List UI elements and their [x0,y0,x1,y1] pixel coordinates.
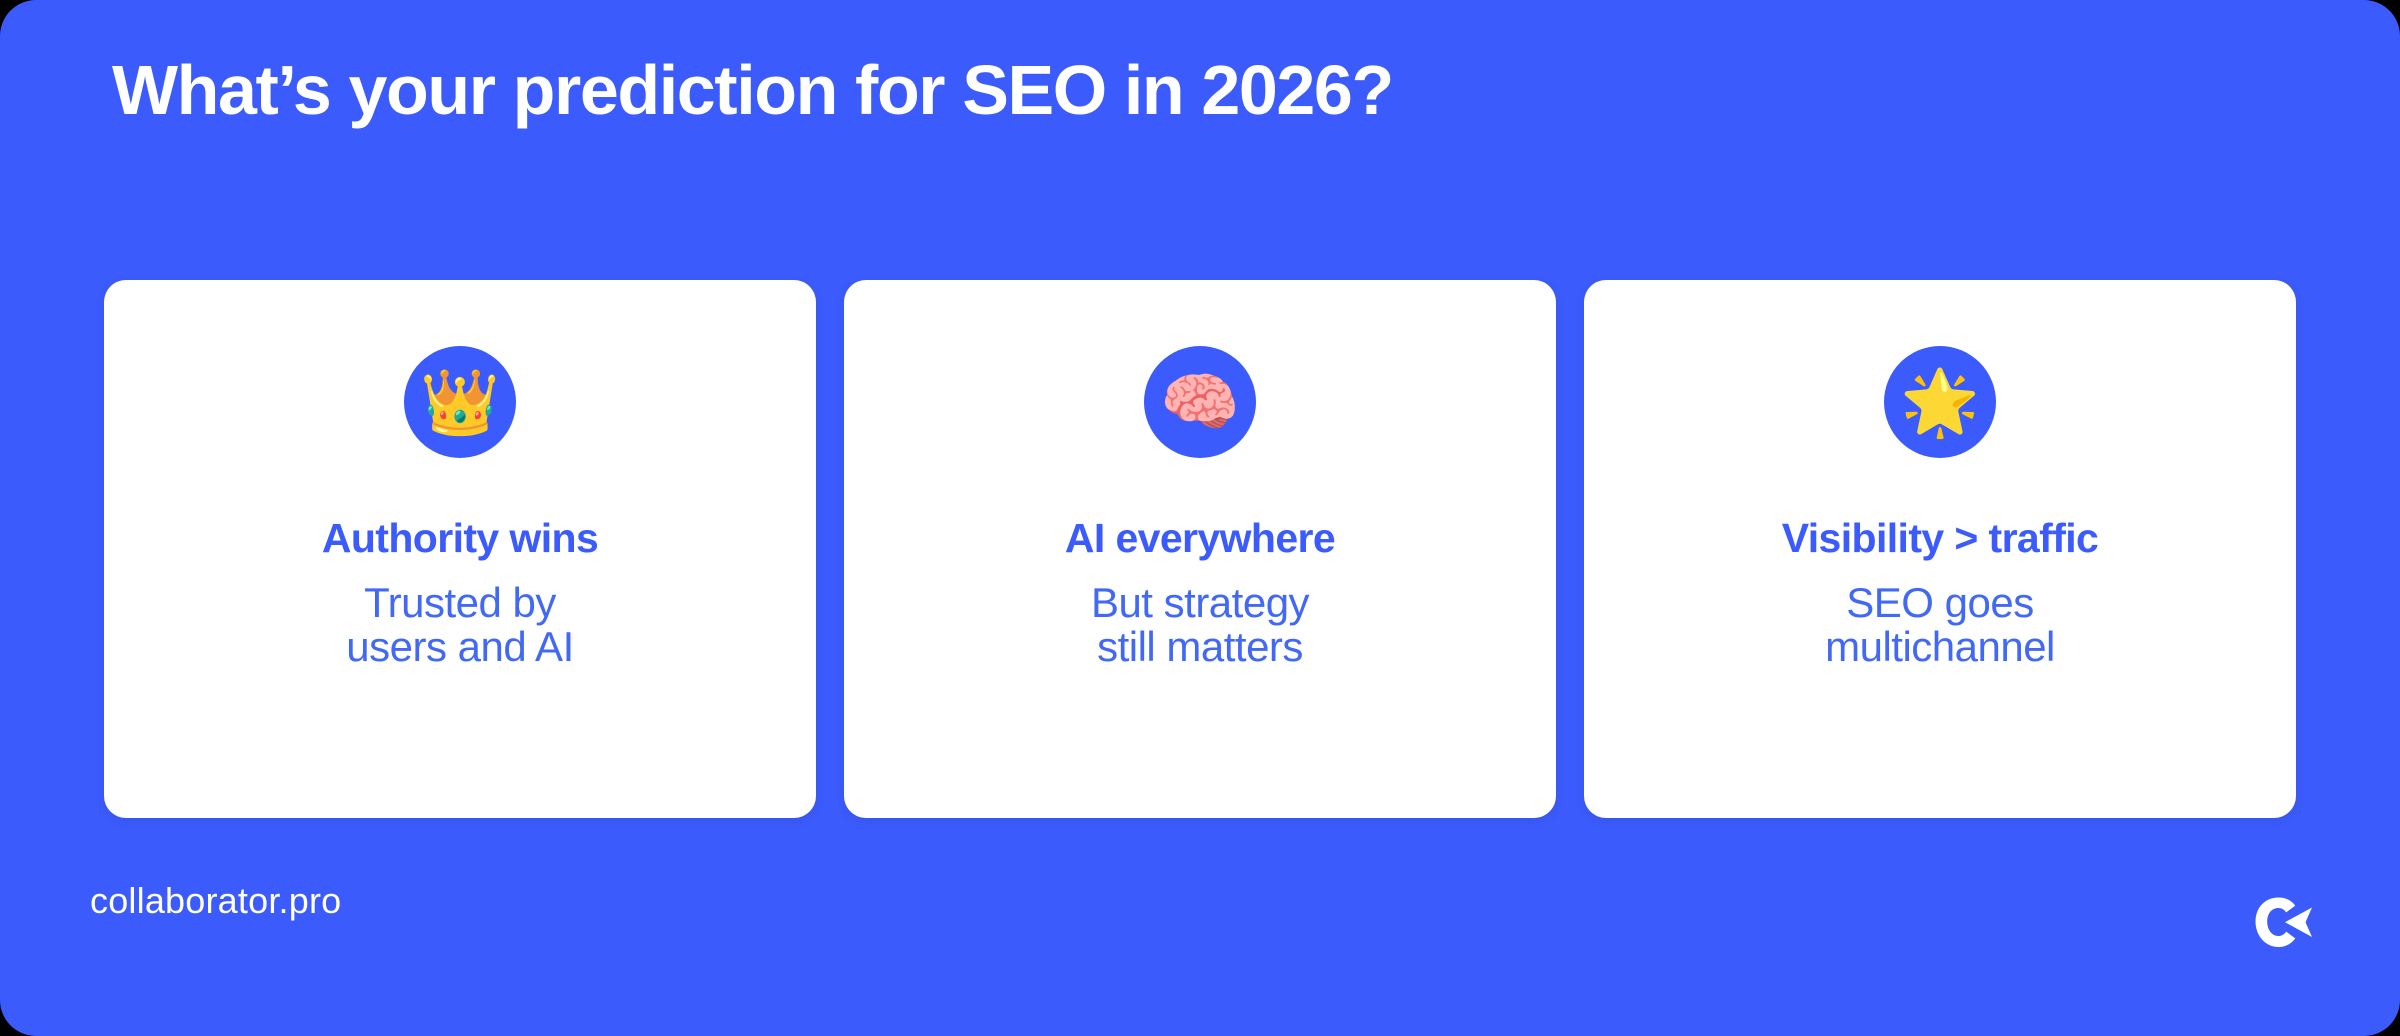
card-body: SEO goes multichannel [1825,581,2055,669]
prediction-card-visibility: 🌟 Visibility > traffic SEO goes multicha… [1584,280,2296,818]
poster-canvas: What’s your prediction for SEO in 2026? … [0,0,2400,1036]
icon-badge: 🧠 [1144,346,1256,458]
card-body: But strategy still matters [1091,581,1309,669]
card-body: Trusted by users and AI [346,581,573,669]
icon-badge: 🌟 [1884,346,1996,458]
collaborator-logo-icon [2252,895,2314,951]
crown-emoji-icon: 👑 [420,370,500,434]
card-title: AI everywhere [1065,516,1335,561]
card-body-line-2: multichannel [1825,625,2055,669]
card-body-line-2: still matters [1091,625,1309,669]
card-title: Authority wins [322,516,598,561]
card-body-line-2: users and AI [346,625,573,669]
card-body-line-1: But strategy [1091,581,1309,625]
glowing-star-emoji-icon: 🌟 [1900,370,1980,434]
brain-emoji-icon: 🧠 [1160,370,1240,434]
prediction-card-authority: 👑 Authority wins Trusted by users and AI [104,280,816,818]
card-title: Visibility > traffic [1782,516,2099,561]
icon-badge: 👑 [404,346,516,458]
footer-website-url: collaborator.pro [90,880,341,922]
prediction-cards-row: 👑 Authority wins Trusted by users and AI… [104,280,2296,818]
prediction-card-ai: 🧠 AI everywhere But strategy still matte… [844,280,1556,818]
page-title: What’s your prediction for SEO in 2026? [112,52,2312,129]
card-body-line-1: SEO goes [1825,581,2055,625]
card-body-line-1: Trusted by [346,581,573,625]
